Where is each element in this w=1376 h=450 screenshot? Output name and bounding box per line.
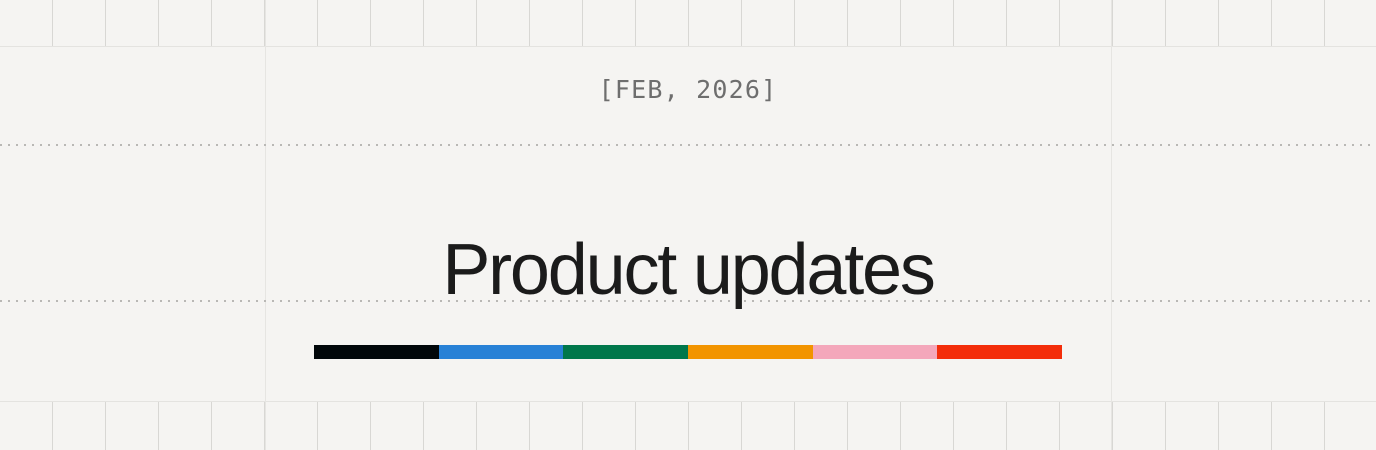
page-canvas: [FEB, 2026] Product updates (0, 0, 1376, 450)
date-eyebrow: [FEB, 2026] (0, 77, 1376, 102)
hero-content: [FEB, 2026] Product updates (0, 0, 1376, 450)
color-swatch-green (563, 345, 688, 359)
color-swatch-blue (439, 345, 564, 359)
color-swatch-orange (688, 345, 813, 359)
color-swatch-black (314, 345, 439, 359)
color-swatch-pink (813, 345, 938, 359)
page-title: Product updates (0, 234, 1376, 306)
brand-color-bar (314, 345, 1062, 359)
color-swatch-red (937, 345, 1062, 359)
